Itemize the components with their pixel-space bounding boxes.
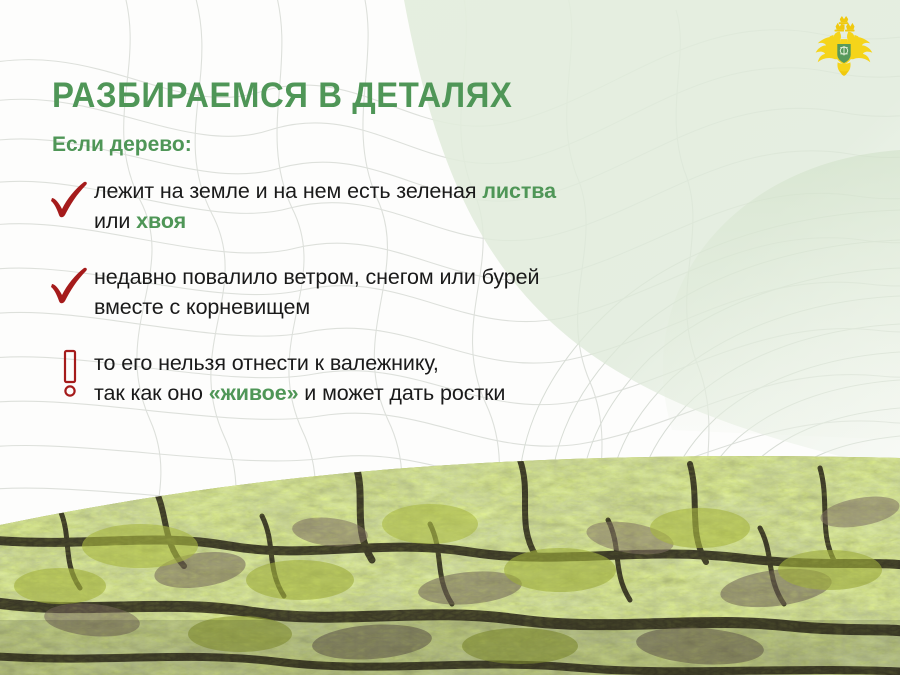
highlighted-term: хвоя (136, 209, 186, 233)
page-subtitle: Если дерево: (52, 132, 192, 158)
check-icon (48, 262, 94, 308)
list-item-line: вместе с корневищем (94, 292, 539, 322)
list-item-line: так как оно «живое» и может дать ростки (94, 378, 505, 408)
list-item-line: или хвоя (94, 206, 556, 236)
check-icon (48, 176, 94, 222)
russian-double-headed-eagle-emblem (812, 16, 876, 78)
check-icon-wrap (48, 262, 94, 314)
check-icon-wrap (48, 176, 94, 228)
page-title: РАЗБИРАЕМСЯ В ДЕТАЛЯХ (52, 76, 512, 116)
text-run: или (94, 209, 136, 233)
text-run: то его нельзя отнести к валежнику, (94, 351, 439, 375)
text-run: недавно повалило ветром, снегом или буре… (94, 265, 539, 289)
list-item: лежит на земле и на нем есть зеленая лис… (48, 176, 748, 236)
text-run: лежит на земле и на нем есть зеленая (94, 179, 482, 203)
list-item: то его нельзя отнести к валежнику,так ка… (48, 348, 748, 408)
text-run: вместе с корневищем (94, 295, 310, 319)
exclamation-icon-wrap (48, 348, 94, 400)
list-item-line: лежит на земле и на нем есть зеленая лис… (94, 176, 556, 206)
highlighted-term: листва (482, 179, 556, 203)
list-item-line: то его нельзя отнести к валежнику, (94, 348, 505, 378)
list-item-text: лежит на земле и на нем есть зеленая лис… (94, 176, 556, 236)
text-run: так как оно (94, 381, 209, 405)
text-run: и может дать ростки (298, 381, 505, 405)
list-item-line: недавно повалило ветром, снегом или буре… (94, 262, 539, 292)
mossy-tree-bark-photo (0, 420, 900, 675)
highlighted-term: «живое» (209, 381, 299, 405)
list-item-text: то его нельзя отнести к валежнику,так ка… (94, 348, 505, 408)
bark-photo-container (0, 420, 900, 675)
conditions-list: лежит на земле и на нем есть зеленая лис… (48, 176, 748, 434)
list-item-text: недавно повалило ветром, снегом или буре… (94, 262, 539, 322)
list-item: недавно повалило ветром, снегом или буре… (48, 262, 748, 322)
exclamation-icon (48, 348, 94, 400)
slide-root: РАЗБИРАЕМСЯ В ДЕТАЛЯХ Если дерево: лежит… (0, 0, 900, 675)
